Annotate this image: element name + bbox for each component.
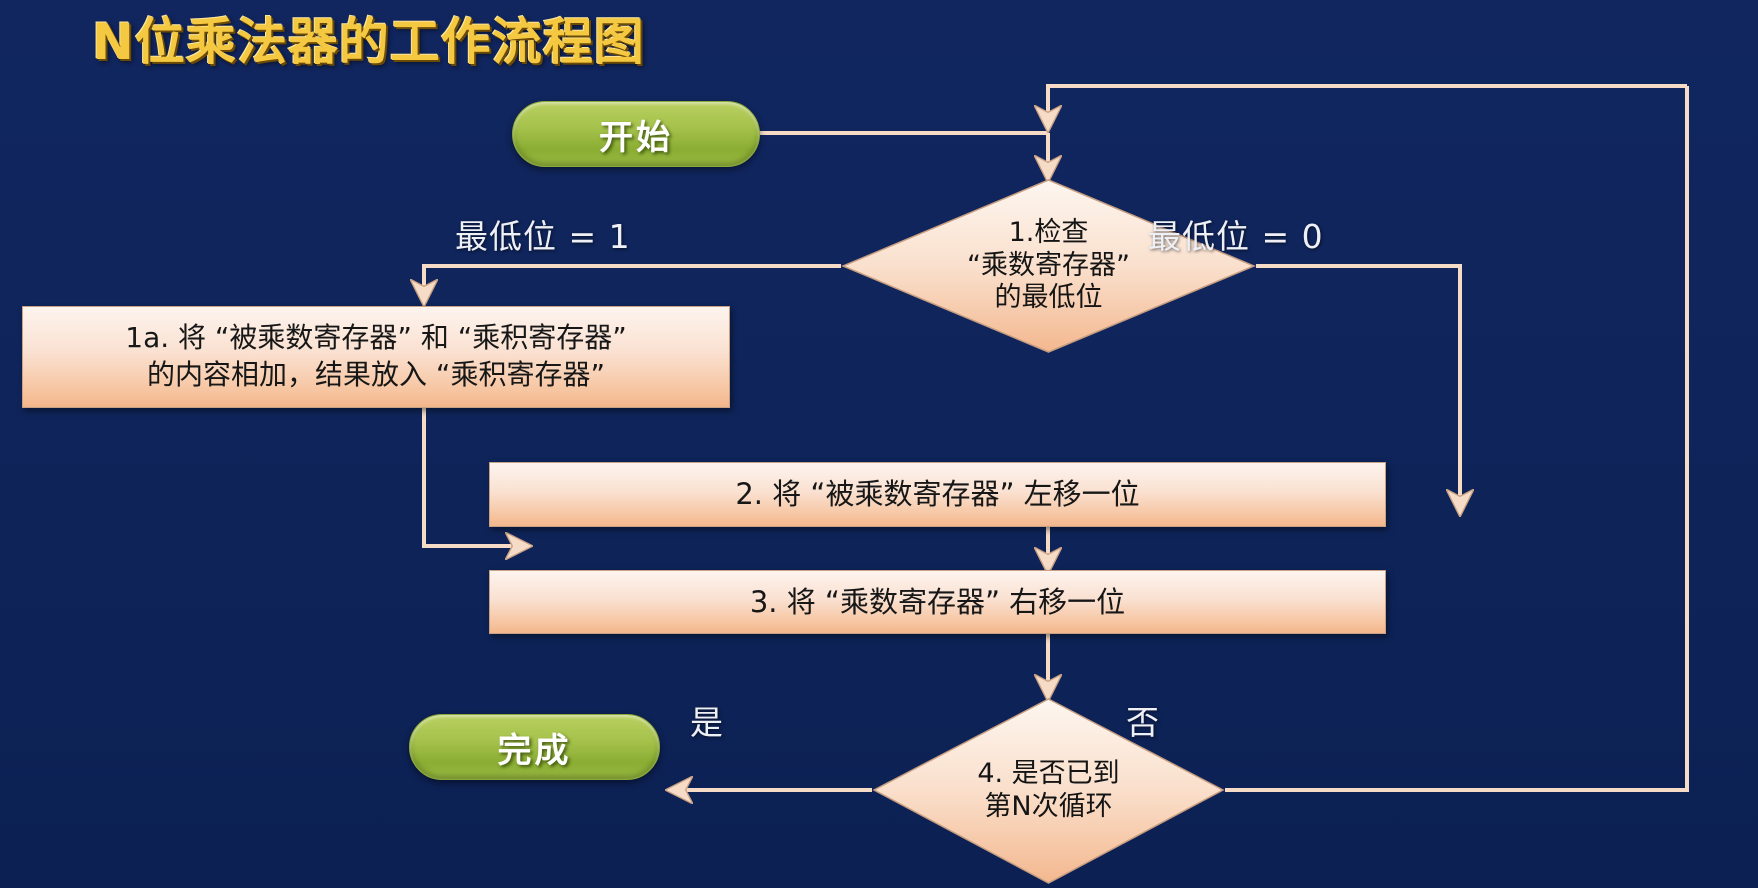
node-decision-check-lsb[interactable]: 1.检查 “乘数寄存器” 的最低位 (841, 178, 1256, 354)
node-step-3[interactable]: 3. 将 “乘数寄存器” 右移一位 (489, 570, 1386, 634)
node-step-1a[interactable]: 1a. 将 “被乘数寄存器” 和 “乘积寄存器” 的内容相加，结果放入 “乘积寄… (22, 306, 730, 408)
edge-decision1-to-step1a (424, 266, 841, 302)
edge-label-yes: 是 (690, 696, 724, 744)
node-decision-loop-count[interactable]: 4. 是否已到 第N次循环 (872, 697, 1225, 885)
edge-label-no: 否 (1126, 696, 1160, 744)
node-step-3-label: 3. 将 “乘数寄存器” 右移一位 (750, 583, 1125, 621)
decision1-shape (841, 178, 1256, 354)
decision4-shape (872, 697, 1225, 885)
edge-decision4-loop (1225, 86, 1687, 790)
page-title: N位乘法器的工作流程图 (92, 2, 645, 74)
node-start[interactable]: 开始 (512, 101, 760, 167)
edge-label-lsb-zero: 最低位 = 0 (1148, 210, 1324, 258)
node-finish[interactable]: 完成 (409, 714, 660, 780)
node-step-1a-label: 1a. 将 “被乘数寄存器” 和 “乘积寄存器” 的内容相加，结果放入 “乘积寄… (125, 320, 627, 394)
edge-label-lsb-one: 最低位 = 1 (455, 210, 631, 258)
flowchart-canvas: N位乘法器的工作流程图 (0, 0, 1758, 888)
node-step-2[interactable]: 2. 将 “被乘数寄存器” 左移一位 (489, 462, 1386, 527)
node-finish-label: 完成 (498, 723, 572, 772)
node-start-label: 开始 (599, 110, 673, 159)
node-step-2-label: 2. 将 “被乘数寄存器” 左移一位 (735, 475, 1139, 513)
edge-loop-return-top (1048, 86, 1687, 128)
